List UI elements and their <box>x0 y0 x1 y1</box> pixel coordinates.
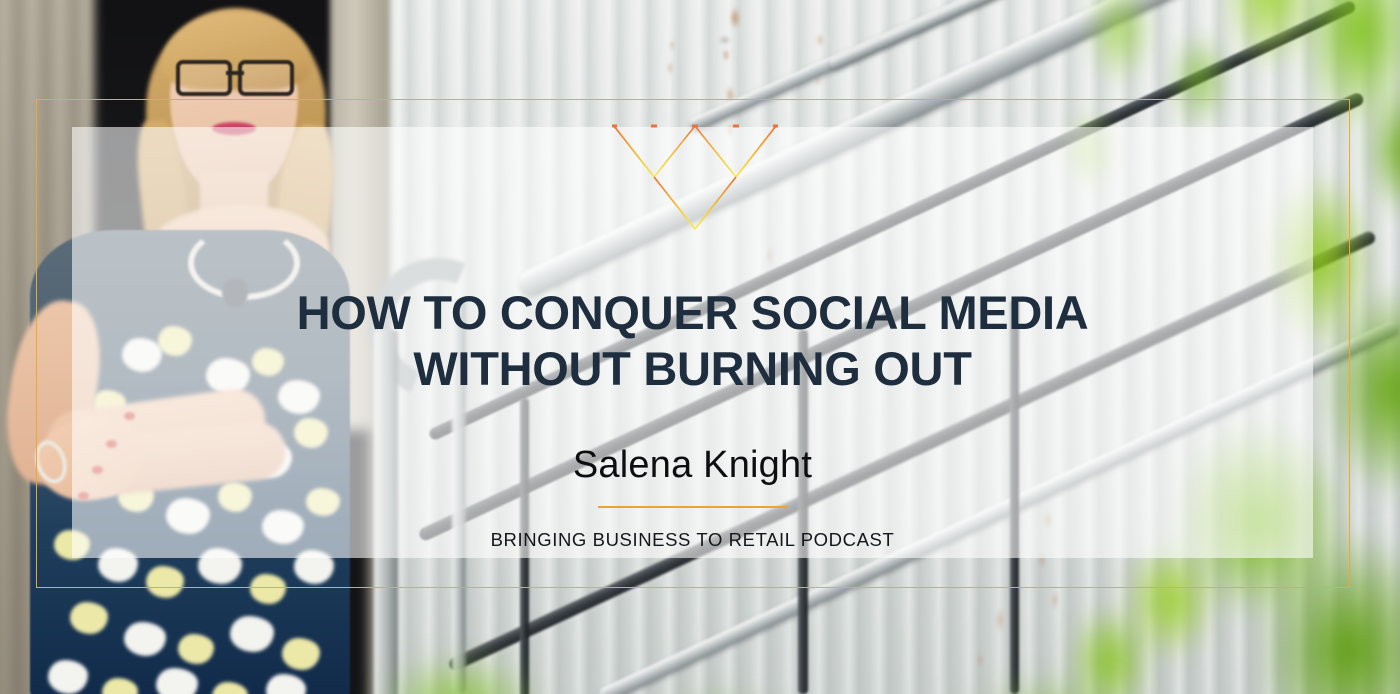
lens-right <box>238 60 294 96</box>
podcast-episode-cover: HOW TO CONQUER SOCIAL MEDIA WITHOUT BURN… <box>0 0 1400 694</box>
eyeglasses <box>176 60 294 90</box>
glasses-bridge <box>226 71 244 75</box>
page-title: HOW TO CONQUER SOCIAL MEDIA WITHOUT BURN… <box>243 127 1143 398</box>
cover-text-block: HOW TO CONQUER SOCIAL MEDIA WITHOUT BURN… <box>72 127 1313 558</box>
show-name: BRINGING BUSINESS TO RETAIL PODCAST <box>491 508 895 551</box>
episode-title-line-1: HOW TO CONQUER SOCIAL MEDIA <box>243 285 1143 341</box>
lens-left <box>176 60 232 96</box>
host-name: Salena Knight <box>573 398 812 487</box>
episode-title-line-2: WITHOUT BURNING OUT <box>243 341 1143 397</box>
